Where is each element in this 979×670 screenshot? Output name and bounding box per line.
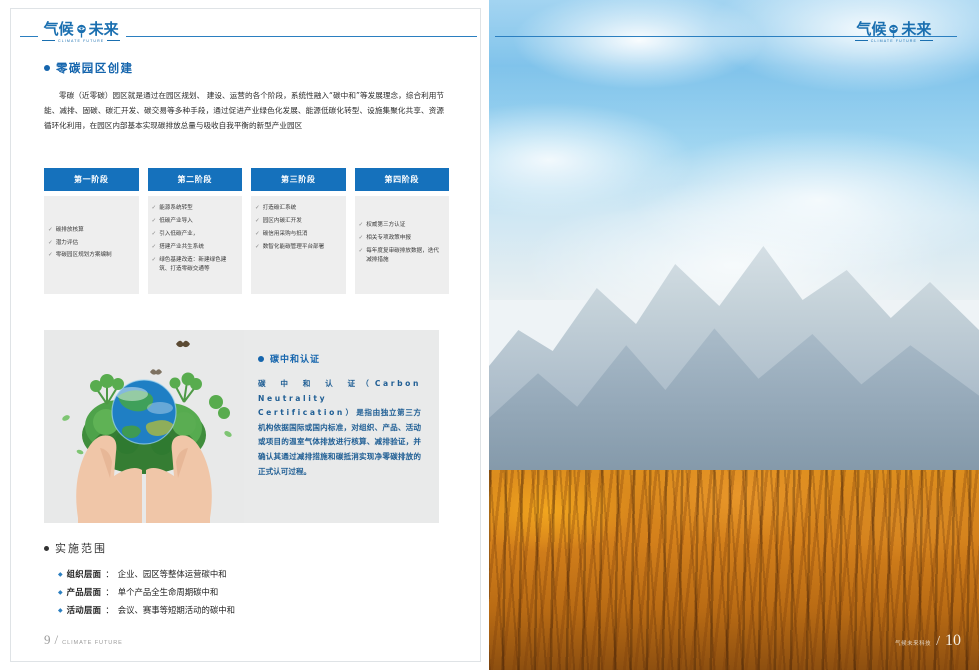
scope-sep: ： bbox=[105, 566, 113, 583]
stage-item-text: 零碳园区规划方案编制 bbox=[56, 251, 134, 260]
right-page-header: 气候 未来 CLIMATE FUTURE bbox=[495, 22, 957, 56]
hands-holding-earth-image bbox=[44, 330, 244, 523]
stage-item-text: 数智化能碳管理平台部署 bbox=[263, 243, 341, 252]
stage-body-3: ✓打造碳汇系统 ✓园区内碳汇开发 ✓碳信用采购与抵消 ✓数智化能碳管理平台部署 bbox=[251, 196, 346, 294]
stage-item: ✓搭建产业共生系统 bbox=[152, 243, 238, 252]
stage-item: ✓能源系统转型 bbox=[152, 204, 238, 213]
list-item: ◆ 组织层面 ： 企业、园区等整体运营碳中和 bbox=[58, 566, 448, 584]
cert-body-text: 是指由独立第三方机构依据国际或国内标准，对组织、产品、活动或项目的温室气体排放进… bbox=[258, 408, 421, 475]
stage-header-1: 第一阶段 bbox=[44, 168, 139, 191]
stage-item: ✓零碳园区规划方案编制 bbox=[48, 251, 134, 260]
stage-item: ✓低碳产业导入 bbox=[152, 217, 238, 226]
check-icon: ✓ bbox=[255, 243, 260, 252]
check-icon: ✓ bbox=[255, 230, 260, 239]
footer-slash: / bbox=[936, 634, 940, 650]
leaf-globe-icon bbox=[887, 24, 900, 38]
stage-item-text: 权威第三方认证 bbox=[366, 221, 444, 230]
scope-label: 产品层面 bbox=[67, 584, 102, 601]
stage-column-4: 第四阶段 ✓权威第三方认证 ✓相关专项政策申报 ✓每年度复审碳排放数据，迭代减排… bbox=[355, 168, 450, 294]
stage-item-text: 碳信用采购与抵消 bbox=[263, 230, 341, 239]
stage-item: ✓数智化能碳管理平台部署 bbox=[255, 243, 341, 252]
logo-subtitle: CLIMATE FUTURE bbox=[58, 39, 104, 43]
diamond-bullet-icon: ◆ bbox=[58, 584, 63, 601]
stage-body-1: ✓碳排放核算 ✓潜力评估 ✓零碳园区规划方案编制 bbox=[44, 196, 139, 294]
stage-item-text: 绿色基建改造：新建绿色建筑、打造零碳交通等 bbox=[159, 256, 237, 275]
cert-body: 碳 中 和 认 证（Carbon Neutrality Certificatio… bbox=[258, 377, 421, 479]
stage-item: ✓碳信用采购与抵消 bbox=[255, 230, 341, 239]
stage-column-1: 第一阶段 ✓碳排放核算 ✓潜力评估 ✓零碳园区规划方案编制 bbox=[44, 168, 139, 294]
stage-item: ✓每年度复审碳排放数据，迭代减排措施 bbox=[359, 247, 445, 266]
check-icon: ✓ bbox=[152, 217, 157, 226]
check-icon: ✓ bbox=[48, 239, 53, 248]
cert-title: 碳中和认证 bbox=[258, 352, 421, 365]
brand-logo: 气候 未来 CLIMATE FUTURE bbox=[38, 22, 126, 43]
check-icon: ✓ bbox=[48, 251, 53, 260]
intro-paragraph: 零碳（近零碳）园区就是通过在园区规划、 建设、运营的各个阶段，系统性融入“碳中和… bbox=[44, 88, 444, 133]
stage-item-text: 能源系统转型 bbox=[159, 204, 237, 213]
stage-item-text: 每年度复审碳排放数据，迭代减排措施 bbox=[366, 247, 444, 266]
scope-sep: ： bbox=[105, 584, 113, 601]
list-item: ◆ 产品层面 ： 单个产品全生命周期碳中和 bbox=[58, 584, 448, 602]
stage-header-4: 第四阶段 bbox=[355, 168, 450, 191]
logo-text-left: 气候 bbox=[856, 22, 886, 37]
check-icon: ✓ bbox=[359, 247, 364, 256]
stage-body-2: ✓能源系统转型 ✓低碳产业导入 ✓引入低碳产业， ✓搭建产业共生系统 ✓绿色基建… bbox=[148, 196, 243, 294]
scope-list: ◆ 组织层面 ： 企业、园区等整体运营碳中和 ◆ 产品层面 ： 单个产品全生命周… bbox=[58, 566, 448, 620]
stage-item: ✓权威第三方认证 bbox=[359, 221, 445, 230]
stage-item: ✓绿色基建改造：新建绿色建筑、打造零碳交通等 bbox=[152, 256, 238, 275]
scope-sep: ： bbox=[105, 602, 113, 619]
logo-text-left: 气候 bbox=[44, 22, 74, 37]
page-number: 9 bbox=[44, 632, 51, 648]
logo-subtitle: CLIMATE FUTURE bbox=[871, 39, 917, 43]
stage-item-text: 引入低碳产业， bbox=[159, 230, 237, 239]
stage-column-2: 第二阶段 ✓能源系统转型 ✓低碳产业导入 ✓引入低碳产业， ✓搭建产业共生系统 … bbox=[148, 168, 243, 294]
left-page-footer: 9 / CLIMATE FUTURE bbox=[44, 632, 123, 648]
left-page-header: 气候 未来 CLIMATE FUTURE bbox=[20, 22, 477, 56]
section-title-text: 零碳园区创建 bbox=[56, 60, 133, 76]
right-page-footer: 气候未来科技 / 10 bbox=[895, 632, 961, 650]
check-icon: ✓ bbox=[255, 217, 260, 226]
check-icon: ✓ bbox=[152, 256, 157, 265]
check-icon: ✓ bbox=[152, 204, 157, 213]
brochure-spread: 气候 未来 CLIMATE FUTURE bbox=[0, 0, 979, 670]
logo-rule-left bbox=[42, 40, 55, 41]
check-icon: ✓ bbox=[48, 226, 53, 235]
stage-columns: 第一阶段 ✓碳排放核算 ✓潜力评估 ✓零碳园区规划方案编制 第二阶段 ✓能源系统… bbox=[44, 168, 449, 294]
check-icon: ✓ bbox=[359, 234, 364, 243]
scope-label: 组织层面 bbox=[67, 566, 102, 583]
scope-value: 单个产品全生命周期碳中和 bbox=[118, 584, 219, 601]
carbon-neutrality-cert-text: 碳中和认证 碳 中 和 认 证（Carbon Neutrality Certif… bbox=[244, 330, 439, 523]
footer-label: 气候未来科技 bbox=[895, 639, 931, 647]
diamond-bullet-icon: ◆ bbox=[58, 566, 63, 583]
scope-title-text: 实施范围 bbox=[55, 540, 107, 556]
page-number: 10 bbox=[945, 632, 961, 650]
stage-item: ✓碳排放核算 bbox=[48, 226, 134, 235]
footer-label: CLIMATE FUTURE bbox=[62, 640, 123, 646]
brand-logo: 气候 未来 CLIMATE FUTURE bbox=[851, 22, 939, 43]
check-icon: ✓ bbox=[152, 243, 157, 252]
stage-item: ✓打造碳汇系统 bbox=[255, 204, 341, 213]
section-title-zero-carbon-park: 零碳园区创建 bbox=[44, 60, 133, 76]
stage-item: ✓引入低碳产业， bbox=[152, 230, 238, 239]
logo-rule-right bbox=[107, 40, 120, 41]
stage-item-text: 碳排放核算 bbox=[56, 226, 134, 235]
bullet-dot-icon bbox=[44, 65, 50, 71]
check-icon: ✓ bbox=[359, 221, 364, 230]
check-icon: ✓ bbox=[152, 230, 157, 239]
stage-item: ✓相关专项政策申报 bbox=[359, 234, 445, 243]
check-icon: ✓ bbox=[255, 204, 260, 213]
stage-item-text: 打造碳汇系统 bbox=[263, 204, 341, 213]
cert-title-text: 碳中和认证 bbox=[270, 352, 320, 365]
logo-text-right: 未来 bbox=[89, 22, 119, 37]
stage-item: ✓潜力评估 bbox=[48, 239, 134, 248]
scope-value: 会议、赛事等短期活动的碳中和 bbox=[118, 602, 235, 619]
carbon-neutrality-cert-block: 碳中和认证 碳 中 和 认 证（Carbon Neutrality Certif… bbox=[44, 330, 439, 523]
page-overlay bbox=[489, 0, 979, 670]
scope-value: 企业、园区等整体运营碳中和 bbox=[118, 566, 227, 583]
stage-item-text: 搭建产业共生系统 bbox=[159, 243, 237, 252]
stage-item-text: 园区内碳汇开发 bbox=[263, 217, 341, 226]
bullet-dot-icon bbox=[44, 546, 49, 551]
list-item: ◆ 活动层面 ： 会议、赛事等短期活动的碳中和 bbox=[58, 602, 448, 620]
footer-slash: / bbox=[55, 632, 59, 648]
scope-label: 活动层面 bbox=[67, 602, 102, 619]
logo-text-right: 未来 bbox=[901, 22, 931, 37]
stage-body-4: ✓权威第三方认证 ✓相关专项政策申报 ✓每年度复审碳排放数据，迭代减排措施 bbox=[355, 196, 450, 294]
stage-item: ✓园区内碳汇开发 bbox=[255, 217, 341, 226]
left-page: 气候 未来 CLIMATE FUTURE bbox=[0, 0, 489, 670]
right-page: 气候 未来 CLIMATE FUTURE bbox=[489, 0, 979, 670]
stage-item-text: 低碳产业导入 bbox=[159, 217, 237, 226]
stage-item-text: 潜力评估 bbox=[56, 239, 134, 248]
logo-rule-left bbox=[855, 40, 868, 41]
leaf-globe-icon bbox=[75, 24, 88, 38]
bullet-dot-icon bbox=[258, 356, 264, 362]
diamond-bullet-icon: ◆ bbox=[58, 602, 63, 619]
stage-item-text: 相关专项政策申报 bbox=[366, 234, 444, 243]
earth-in-hands-illustration bbox=[44, 330, 244, 523]
section-title-scope: 实施范围 bbox=[44, 540, 107, 556]
stage-column-3: 第三阶段 ✓打造碳汇系统 ✓园区内碳汇开发 ✓碳信用采购与抵消 ✓数智化能碳管理… bbox=[251, 168, 346, 294]
stage-header-3: 第三阶段 bbox=[251, 168, 346, 191]
logo-rule-right bbox=[920, 40, 933, 41]
stage-header-2: 第二阶段 bbox=[148, 168, 243, 191]
